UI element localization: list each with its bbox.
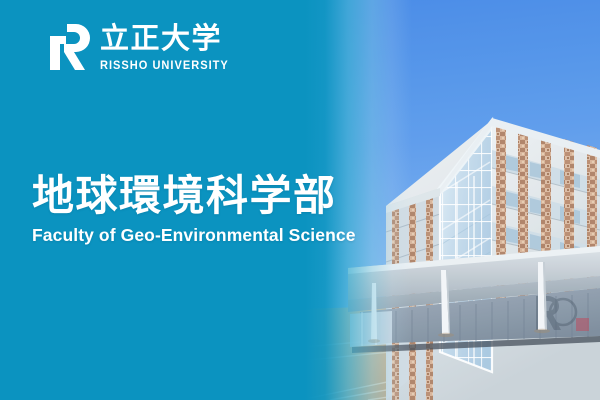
faculty-headline: 地球環境科学部 Faculty of Geo-Environmental Sci…: [32, 172, 356, 246]
logo-wordmark: 立正大学 RISSHO UNIVERSITY: [100, 22, 234, 73]
logo-english-name: RISSHO UNIVERSITY: [100, 59, 229, 73]
university-logo: 立正大学 RISSHO UNIVERSITY: [48, 22, 234, 73]
logo-japanese-name: 立正大学: [100, 23, 234, 56]
faculty-name-english: Faculty of Geo-Environmental Science: [32, 225, 356, 246]
rissho-r-monogram-icon: [48, 22, 90, 72]
faculty-name-japanese: 地球環境科学部: [32, 172, 356, 220]
university-faculty-banner: 立正大学 RISSHO UNIVERSITY 地球環境科学部 Faculty o…: [0, 0, 600, 400]
